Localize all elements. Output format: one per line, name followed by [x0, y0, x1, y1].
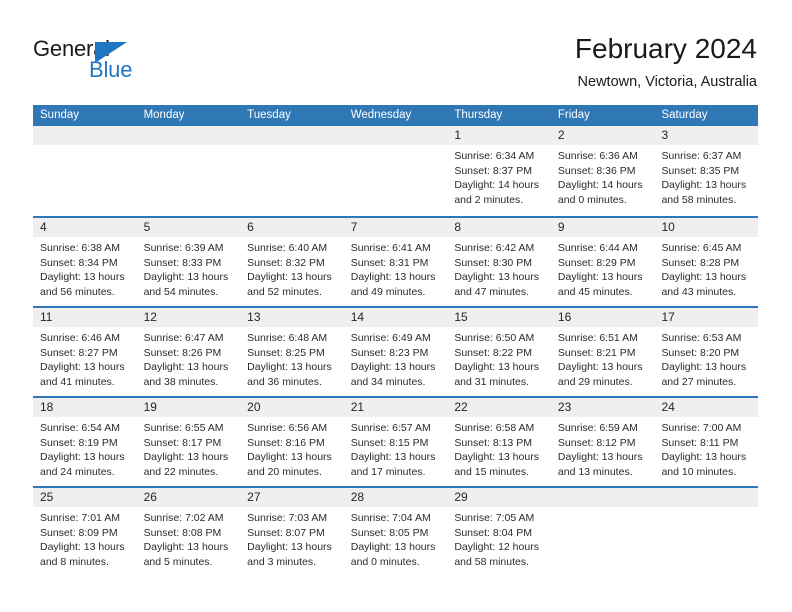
sunrise-text: Sunrise: 6:45 AM — [661, 241, 752, 256]
sunrise-text: Sunrise: 6:38 AM — [40, 241, 131, 256]
daylight-text-cont: and 20 minutes. — [247, 465, 338, 480]
title-block: February 2024 Newtown, Victoria, Austral… — [575, 32, 757, 92]
day-number: 20 — [247, 398, 260, 417]
day-details: Sunrise: 6:41 AMSunset: 8:31 PMDaylight:… — [344, 237, 448, 299]
day-number: 28 — [351, 488, 364, 507]
sunset-text: Sunset: 8:31 PM — [351, 256, 442, 271]
daylight-text-cont: and 34 minutes. — [351, 375, 442, 390]
day-cell-empty — [344, 126, 448, 216]
day-details: Sunrise: 6:34 AMSunset: 8:37 PMDaylight:… — [447, 145, 551, 207]
day-cell[interactable]: 11Sunrise: 6:46 AMSunset: 8:27 PMDayligh… — [33, 308, 137, 396]
day-number: 2 — [558, 126, 565, 145]
calendar-week-row: 4Sunrise: 6:38 AMSunset: 8:34 PMDaylight… — [33, 216, 758, 306]
sunrise-text: Sunrise: 6:34 AM — [454, 149, 545, 164]
page-title: February 2024 — [575, 32, 757, 66]
daylight-text-cont: and 22 minutes. — [144, 465, 235, 480]
day-number: 10 — [661, 218, 674, 237]
day-number: 11 — [40, 308, 52, 327]
daylight-text: Daylight: 13 hours — [558, 450, 649, 465]
day-cell[interactable]: 28Sunrise: 7:04 AMSunset: 8:05 PMDayligh… — [344, 488, 448, 576]
day-number: 27 — [247, 488, 260, 507]
day-cell[interactable]: 10Sunrise: 6:45 AMSunset: 8:28 PMDayligh… — [654, 218, 758, 306]
daylight-text: Daylight: 13 hours — [661, 178, 752, 193]
sunset-text: Sunset: 8:04 PM — [454, 526, 545, 541]
day-details: Sunrise: 6:48 AMSunset: 8:25 PMDaylight:… — [240, 327, 344, 389]
sunrise-text: Sunrise: 7:03 AM — [247, 511, 338, 526]
day-details: Sunrise: 6:44 AMSunset: 8:29 PMDaylight:… — [551, 237, 655, 299]
day-cell[interactable]: 7Sunrise: 6:41 AMSunset: 8:31 PMDaylight… — [344, 218, 448, 306]
day-details: Sunrise: 6:56 AMSunset: 8:16 PMDaylight:… — [240, 417, 344, 479]
day-number-band: 29 — [447, 488, 551, 507]
sunrise-text: Sunrise: 6:49 AM — [351, 331, 442, 346]
day-details: Sunrise: 6:36 AMSunset: 8:36 PMDaylight:… — [551, 145, 655, 207]
day-number-band — [240, 126, 344, 145]
day-details: Sunrise: 6:42 AMSunset: 8:30 PMDaylight:… — [447, 237, 551, 299]
day-cell[interactable]: 20Sunrise: 6:56 AMSunset: 8:16 PMDayligh… — [240, 398, 344, 486]
daylight-text: Daylight: 13 hours — [247, 540, 338, 555]
day-details: Sunrise: 6:40 AMSunset: 8:32 PMDaylight:… — [240, 237, 344, 299]
sunset-text: Sunset: 8:13 PM — [454, 436, 545, 451]
day-cell[interactable]: 13Sunrise: 6:48 AMSunset: 8:25 PMDayligh… — [240, 308, 344, 396]
day-number-band: 28 — [344, 488, 448, 507]
day-number-band: 17 — [654, 308, 758, 327]
day-cell[interactable]: 29Sunrise: 7:05 AMSunset: 8:04 PMDayligh… — [447, 488, 551, 576]
sunset-text: Sunset: 8:12 PM — [558, 436, 649, 451]
calendar-weeks: 1Sunrise: 6:34 AMSunset: 8:37 PMDaylight… — [33, 126, 758, 576]
day-number-band: 21 — [344, 398, 448, 417]
day-cell[interactable]: 23Sunrise: 6:59 AMSunset: 8:12 PMDayligh… — [551, 398, 655, 486]
day-number-band: 6 — [240, 218, 344, 237]
day-number-band: 10 — [654, 218, 758, 237]
day-number: 1 — [454, 126, 461, 145]
day-number-band: 1 — [447, 126, 551, 145]
day-number: 16 — [558, 308, 571, 327]
day-number-band — [137, 126, 241, 145]
sunset-text: Sunset: 8:05 PM — [351, 526, 442, 541]
day-number: 17 — [661, 308, 674, 327]
calendar-week-row: 1Sunrise: 6:34 AMSunset: 8:37 PMDaylight… — [33, 126, 758, 216]
sunset-text: Sunset: 8:37 PM — [454, 164, 545, 179]
day-number: 7 — [351, 218, 358, 237]
day-details: Sunrise: 7:03 AMSunset: 8:07 PMDaylight:… — [240, 507, 344, 569]
day-details: Sunrise: 7:00 AMSunset: 8:11 PMDaylight:… — [654, 417, 758, 479]
daylight-text-cont: and 10 minutes. — [661, 465, 752, 480]
daylight-text-cont: and 45 minutes. — [558, 285, 649, 300]
sunset-text: Sunset: 8:07 PM — [247, 526, 338, 541]
daylight-text: Daylight: 13 hours — [351, 540, 442, 555]
daylight-text-cont: and 58 minutes. — [454, 555, 545, 570]
day-number-band: 19 — [137, 398, 241, 417]
day-number-band: 24 — [654, 398, 758, 417]
daylight-text-cont: and 13 minutes. — [558, 465, 649, 480]
page-subtitle: Newtown, Victoria, Australia — [575, 72, 757, 92]
daylight-text-cont: and 38 minutes. — [144, 375, 235, 390]
day-cell-empty — [137, 126, 241, 216]
day-number-band: 27 — [240, 488, 344, 507]
day-number: 6 — [247, 218, 254, 237]
daylight-text-cont: and 49 minutes. — [351, 285, 442, 300]
daylight-text-cont: and 0 minutes. — [351, 555, 442, 570]
day-cell[interactable]: 25Sunrise: 7:01 AMSunset: 8:09 PMDayligh… — [33, 488, 137, 576]
daylight-text: Daylight: 13 hours — [40, 450, 131, 465]
sunrise-text: Sunrise: 6:37 AM — [661, 149, 752, 164]
daylight-text-cont: and 47 minutes. — [454, 285, 545, 300]
day-number-band: 2 — [551, 126, 655, 145]
day-details: Sunrise: 6:47 AMSunset: 8:26 PMDaylight:… — [137, 327, 241, 389]
day-cell[interactable]: 1Sunrise: 6:34 AMSunset: 8:37 PMDaylight… — [447, 126, 551, 216]
day-cell[interactable]: 27Sunrise: 7:03 AMSunset: 8:07 PMDayligh… — [240, 488, 344, 576]
daylight-text-cont: and 43 minutes. — [661, 285, 752, 300]
sunset-text: Sunset: 8:33 PM — [144, 256, 235, 271]
day-number: 13 — [247, 308, 260, 327]
sunset-text: Sunset: 8:17 PM — [144, 436, 235, 451]
day-cell[interactable]: 19Sunrise: 6:55 AMSunset: 8:17 PMDayligh… — [137, 398, 241, 486]
daylight-text-cont: and 41 minutes. — [40, 375, 131, 390]
daylight-text: Daylight: 13 hours — [454, 450, 545, 465]
day-number: 22 — [454, 398, 467, 417]
day-number-band: 15 — [447, 308, 551, 327]
day-number-band: 4 — [33, 218, 137, 237]
day-cell-empty — [654, 488, 758, 576]
day-cell[interactable]: 26Sunrise: 7:02 AMSunset: 8:08 PMDayligh… — [137, 488, 241, 576]
day-cell[interactable]: 24Sunrise: 7:00 AMSunset: 8:11 PMDayligh… — [654, 398, 758, 486]
day-number-band: 9 — [551, 218, 655, 237]
daylight-text-cont: and 0 minutes. — [558, 193, 649, 208]
day-cell-empty — [240, 126, 344, 216]
day-details: Sunrise: 6:54 AMSunset: 8:19 PMDaylight:… — [33, 417, 137, 479]
sunset-text: Sunset: 8:20 PM — [661, 346, 752, 361]
day-details: Sunrise: 6:49 AMSunset: 8:23 PMDaylight:… — [344, 327, 448, 389]
weekday-header-sunday: Sunday — [33, 105, 137, 126]
sunrise-text: Sunrise: 6:36 AM — [558, 149, 649, 164]
day-details: Sunrise: 6:53 AMSunset: 8:20 PMDaylight:… — [654, 327, 758, 389]
day-cell[interactable]: 15Sunrise: 6:50 AMSunset: 8:22 PMDayligh… — [447, 308, 551, 396]
day-cell-empty — [551, 488, 655, 576]
sunrise-text: Sunrise: 6:44 AM — [558, 241, 649, 256]
daylight-text: Daylight: 13 hours — [454, 360, 545, 375]
day-cell[interactable]: 14Sunrise: 6:49 AMSunset: 8:23 PMDayligh… — [344, 308, 448, 396]
day-cell[interactable]: 4Sunrise: 6:38 AMSunset: 8:34 PMDaylight… — [33, 218, 137, 306]
logo-text-blue: Blue — [89, 57, 132, 83]
daylight-text: Daylight: 13 hours — [144, 270, 235, 285]
weekday-header-monday: Monday — [137, 105, 241, 126]
sunrise-text: Sunrise: 7:00 AM — [661, 421, 752, 436]
day-details: Sunrise: 6:58 AMSunset: 8:13 PMDaylight:… — [447, 417, 551, 479]
daylight-text: Daylight: 13 hours — [40, 540, 131, 555]
page-header: General Blue February 2024 Newtown, Vict… — [0, 0, 792, 100]
day-number-band: 13 — [240, 308, 344, 327]
day-details: Sunrise: 6:50 AMSunset: 8:22 PMDaylight:… — [447, 327, 551, 389]
day-number: 25 — [40, 488, 53, 507]
day-number: 26 — [144, 488, 157, 507]
sunset-text: Sunset: 8:16 PM — [247, 436, 338, 451]
day-cell[interactable]: 18Sunrise: 6:54 AMSunset: 8:19 PMDayligh… — [33, 398, 137, 486]
day-number-band: 22 — [447, 398, 551, 417]
daylight-text: Daylight: 13 hours — [558, 270, 649, 285]
day-cell[interactable]: 8Sunrise: 6:42 AMSunset: 8:30 PMDaylight… — [447, 218, 551, 306]
sunrise-text: Sunrise: 6:55 AM — [144, 421, 235, 436]
daylight-text: Daylight: 14 hours — [558, 178, 649, 193]
daylight-text: Daylight: 13 hours — [351, 360, 442, 375]
daylight-text: Daylight: 13 hours — [247, 450, 338, 465]
day-number: 15 — [454, 308, 467, 327]
daylight-text-cont: and 52 minutes. — [247, 285, 338, 300]
sunrise-text: Sunrise: 6:57 AM — [351, 421, 442, 436]
daylight-text: Daylight: 13 hours — [558, 360, 649, 375]
sunset-text: Sunset: 8:29 PM — [558, 256, 649, 271]
daylight-text-cont: and 31 minutes. — [454, 375, 545, 390]
sunset-text: Sunset: 8:32 PM — [247, 256, 338, 271]
daylight-text: Daylight: 12 hours — [454, 540, 545, 555]
day-number-band: 8 — [447, 218, 551, 237]
daylight-text-cont: and 27 minutes. — [661, 375, 752, 390]
sunset-text: Sunset: 8:08 PM — [144, 526, 235, 541]
sunrise-text: Sunrise: 6:56 AM — [247, 421, 338, 436]
day-number-band: 20 — [240, 398, 344, 417]
day-cell[interactable]: 3Sunrise: 6:37 AMSunset: 8:35 PMDaylight… — [654, 126, 758, 216]
daylight-text: Daylight: 13 hours — [40, 270, 131, 285]
daylight-text: Daylight: 13 hours — [661, 270, 752, 285]
day-number-band: 11 — [33, 308, 137, 327]
day-cell[interactable]: 9Sunrise: 6:44 AMSunset: 8:29 PMDaylight… — [551, 218, 655, 306]
weekday-header-thursday: Thursday — [447, 105, 551, 126]
sunset-text: Sunset: 8:35 PM — [661, 164, 752, 179]
daylight-text-cont: and 17 minutes. — [351, 465, 442, 480]
day-number: 8 — [454, 218, 461, 237]
day-details: Sunrise: 6:37 AMSunset: 8:35 PMDaylight:… — [654, 145, 758, 207]
daylight-text-cont: and 3 minutes. — [247, 555, 338, 570]
day-number: 9 — [558, 218, 565, 237]
sunset-text: Sunset: 8:21 PM — [558, 346, 649, 361]
calendar-week-row: 25Sunrise: 7:01 AMSunset: 8:09 PMDayligh… — [33, 486, 758, 576]
sunrise-text: Sunrise: 6:58 AM — [454, 421, 545, 436]
day-details: Sunrise: 7:04 AMSunset: 8:05 PMDaylight:… — [344, 507, 448, 569]
day-number: 3 — [661, 126, 668, 145]
sunrise-text: Sunrise: 6:53 AM — [661, 331, 752, 346]
sunset-text: Sunset: 8:36 PM — [558, 164, 649, 179]
sunset-text: Sunset: 8:15 PM — [351, 436, 442, 451]
weekday-header-row: Sunday Monday Tuesday Wednesday Thursday… — [33, 105, 758, 126]
day-details: Sunrise: 6:55 AMSunset: 8:17 PMDaylight:… — [137, 417, 241, 479]
weekday-header-tuesday: Tuesday — [240, 105, 344, 126]
day-number-band: 26 — [137, 488, 241, 507]
sunrise-text: Sunrise: 6:54 AM — [40, 421, 131, 436]
day-number-band: 18 — [33, 398, 137, 417]
sunset-text: Sunset: 8:25 PM — [247, 346, 338, 361]
sunrise-text: Sunrise: 6:47 AM — [144, 331, 235, 346]
daylight-text: Daylight: 13 hours — [40, 360, 131, 375]
daylight-text: Daylight: 13 hours — [454, 270, 545, 285]
weekday-header-saturday: Saturday — [654, 105, 758, 126]
daylight-text: Daylight: 13 hours — [144, 540, 235, 555]
sunset-text: Sunset: 8:34 PM — [40, 256, 131, 271]
daylight-text-cont: and 2 minutes. — [454, 193, 545, 208]
daylight-text-cont: and 8 minutes. — [40, 555, 131, 570]
sunrise-text: Sunrise: 6:51 AM — [558, 331, 649, 346]
sunset-text: Sunset: 8:26 PM — [144, 346, 235, 361]
sunset-text: Sunset: 8:09 PM — [40, 526, 131, 541]
day-number: 23 — [558, 398, 571, 417]
daylight-text: Daylight: 13 hours — [144, 360, 235, 375]
day-number: 12 — [144, 308, 157, 327]
sunrise-text: Sunrise: 6:42 AM — [454, 241, 545, 256]
daylight-text-cont: and 15 minutes. — [454, 465, 545, 480]
daylight-text: Daylight: 13 hours — [144, 450, 235, 465]
day-details: Sunrise: 6:38 AMSunset: 8:34 PMDaylight:… — [33, 237, 137, 299]
day-number-band — [33, 126, 137, 145]
day-number-band — [551, 488, 655, 507]
sunrise-text: Sunrise: 7:04 AM — [351, 511, 442, 526]
day-number: 5 — [144, 218, 151, 237]
calendar-page: General Blue February 2024 Newtown, Vict… — [0, 0, 792, 612]
calendar-week-row: 11Sunrise: 6:46 AMSunset: 8:27 PMDayligh… — [33, 306, 758, 396]
day-number-band: 16 — [551, 308, 655, 327]
day-cell[interactable]: 16Sunrise: 6:51 AMSunset: 8:21 PMDayligh… — [551, 308, 655, 396]
day-details: Sunrise: 6:57 AMSunset: 8:15 PMDaylight:… — [344, 417, 448, 479]
calendar-grid: Sunday Monday Tuesday Wednesday Thursday… — [33, 105, 758, 576]
day-number-band: 23 — [551, 398, 655, 417]
day-cell[interactable]: 17Sunrise: 6:53 AMSunset: 8:20 PMDayligh… — [654, 308, 758, 396]
day-details: Sunrise: 7:01 AMSunset: 8:09 PMDaylight:… — [33, 507, 137, 569]
sunrise-text: Sunrise: 6:50 AM — [454, 331, 545, 346]
day-cell[interactable]: 12Sunrise: 6:47 AMSunset: 8:26 PMDayligh… — [137, 308, 241, 396]
day-number-band: 7 — [344, 218, 448, 237]
daylight-text: Daylight: 13 hours — [247, 270, 338, 285]
sunset-text: Sunset: 8:28 PM — [661, 256, 752, 271]
general-blue-logo[interactable]: General Blue — [33, 36, 148, 84]
sunrise-text: Sunrise: 6:46 AM — [40, 331, 131, 346]
daylight-text-cont: and 36 minutes. — [247, 375, 338, 390]
day-details: Sunrise: 6:45 AMSunset: 8:28 PMDaylight:… — [654, 237, 758, 299]
day-number-band: 3 — [654, 126, 758, 145]
day-number-band — [654, 488, 758, 507]
day-cell[interactable]: 6Sunrise: 6:40 AMSunset: 8:32 PMDaylight… — [240, 218, 344, 306]
daylight-text-cont: and 29 minutes. — [558, 375, 649, 390]
day-number: 19 — [144, 398, 157, 417]
day-cell[interactable]: 22Sunrise: 6:58 AMSunset: 8:13 PMDayligh… — [447, 398, 551, 486]
sunrise-text: Sunrise: 7:02 AM — [144, 511, 235, 526]
daylight-text-cont: and 5 minutes. — [144, 555, 235, 570]
day-number: 21 — [351, 398, 364, 417]
sunrise-text: Sunrise: 6:59 AM — [558, 421, 649, 436]
daylight-text-cont: and 58 minutes. — [661, 193, 752, 208]
sunrise-text: Sunrise: 7:01 AM — [40, 511, 131, 526]
day-number: 14 — [351, 308, 364, 327]
day-cell-empty — [33, 126, 137, 216]
sunset-text: Sunset: 8:19 PM — [40, 436, 131, 451]
day-number-band: 14 — [344, 308, 448, 327]
daylight-text: Daylight: 13 hours — [247, 360, 338, 375]
day-details: Sunrise: 6:51 AMSunset: 8:21 PMDaylight:… — [551, 327, 655, 389]
day-cell[interactable]: 21Sunrise: 6:57 AMSunset: 8:15 PMDayligh… — [344, 398, 448, 486]
sunset-text: Sunset: 8:23 PM — [351, 346, 442, 361]
day-number-band — [344, 126, 448, 145]
day-details: Sunrise: 6:59 AMSunset: 8:12 PMDaylight:… — [551, 417, 655, 479]
daylight-text-cont: and 56 minutes. — [40, 285, 131, 300]
day-number-band: 12 — [137, 308, 241, 327]
daylight-text-cont: and 54 minutes. — [144, 285, 235, 300]
day-details: Sunrise: 7:05 AMSunset: 8:04 PMDaylight:… — [447, 507, 551, 569]
sunrise-text: Sunrise: 6:40 AM — [247, 241, 338, 256]
sunset-text: Sunset: 8:27 PM — [40, 346, 131, 361]
sunrise-text: Sunrise: 6:48 AM — [247, 331, 338, 346]
daylight-text: Daylight: 13 hours — [351, 450, 442, 465]
day-details: Sunrise: 6:39 AMSunset: 8:33 PMDaylight:… — [137, 237, 241, 299]
day-cell[interactable]: 5Sunrise: 6:39 AMSunset: 8:33 PMDaylight… — [137, 218, 241, 306]
day-number: 29 — [454, 488, 467, 507]
weekday-header-wednesday: Wednesday — [344, 105, 448, 126]
sunset-text: Sunset: 8:11 PM — [661, 436, 752, 451]
daylight-text: Daylight: 13 hours — [351, 270, 442, 285]
sunrise-text: Sunrise: 6:39 AM — [144, 241, 235, 256]
daylight-text-cont: and 24 minutes. — [40, 465, 131, 480]
day-number: 4 — [40, 218, 47, 237]
sunrise-text: Sunrise: 6:41 AM — [351, 241, 442, 256]
day-number: 24 — [661, 398, 674, 417]
sunrise-text: Sunrise: 7:05 AM — [454, 511, 545, 526]
sunset-text: Sunset: 8:30 PM — [454, 256, 545, 271]
day-details: Sunrise: 6:46 AMSunset: 8:27 PMDaylight:… — [33, 327, 137, 389]
sunset-text: Sunset: 8:22 PM — [454, 346, 545, 361]
day-number-band: 25 — [33, 488, 137, 507]
day-number-band: 5 — [137, 218, 241, 237]
daylight-text: Daylight: 13 hours — [661, 450, 752, 465]
weekday-header-friday: Friday — [551, 105, 655, 126]
day-cell[interactable]: 2Sunrise: 6:36 AMSunset: 8:36 PMDaylight… — [551, 126, 655, 216]
calendar-week-row: 18Sunrise: 6:54 AMSunset: 8:19 PMDayligh… — [33, 396, 758, 486]
day-number: 18 — [40, 398, 53, 417]
day-details: Sunrise: 7:02 AMSunset: 8:08 PMDaylight:… — [137, 507, 241, 569]
daylight-text: Daylight: 14 hours — [454, 178, 545, 193]
daylight-text: Daylight: 13 hours — [661, 360, 752, 375]
